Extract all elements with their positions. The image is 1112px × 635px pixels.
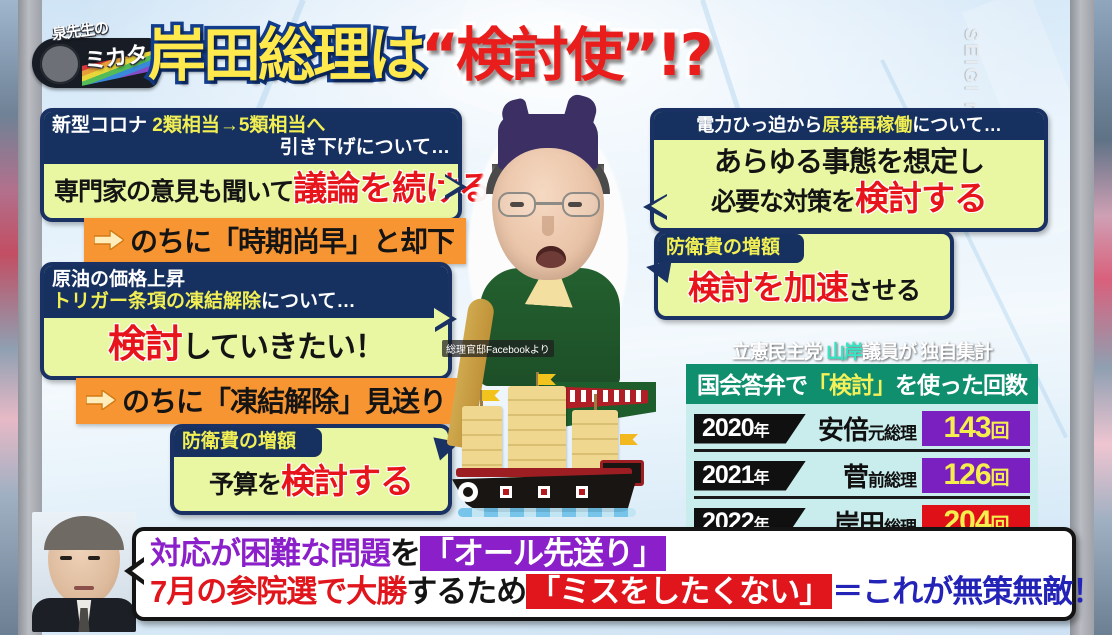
stats-title-pre: 国会答弁で	[697, 372, 807, 398]
banner-line1-part-c: 「オール先送り」	[420, 536, 666, 571]
stats-row-name-value: 安倍	[818, 415, 868, 445]
stats-row-count-value: 126	[943, 458, 990, 491]
stats-title-post: を使った回数	[895, 372, 1027, 398]
broadcast-graphic-stage: SEIGI no MIKATA SEIGI no MIKATA 泉先生の ミカタ…	[0, 0, 1112, 635]
banner-line-2: 7月の参院選で大勝するため「ミスをしたくない」＝これが無策無敵！	[150, 573, 1062, 611]
page-title: 岸田総理は “検討使”!?	[148, 10, 710, 90]
ship-round-window	[458, 482, 478, 502]
bubble-defense-accelerate: 防衛費の増額 検討を加速させる	[654, 230, 954, 320]
ship-sail	[508, 386, 566, 478]
bubble-nuclear-body-line2-highlight: 検討する	[855, 180, 987, 218]
banner-line2-part-a: 7月の参院選で大勝	[150, 574, 406, 609]
figure-nose	[542, 216, 554, 236]
figure-mouth	[536, 246, 566, 268]
table-row: 2020年 安倍元総理 143回	[694, 410, 1030, 452]
ship-sail	[462, 406, 502, 474]
right-edge-bar	[1094, 0, 1112, 635]
figure-glasses-icon	[498, 192, 600, 218]
arrow-right-icon	[94, 230, 124, 250]
stats-row-year: 2021年	[694, 461, 806, 491]
bubble-corona-header-highlight: 2類相当→5類相当へ	[152, 115, 325, 136]
bubble-nuclear-header-plain2: について…	[912, 115, 1001, 135]
ship-port-window	[536, 484, 552, 500]
stats-row-count: 143回	[922, 411, 1030, 446]
stats-row-count-unit: 回	[991, 421, 1009, 442]
bubble-nuclear-header-plain: 電力ひっ迫から	[696, 115, 822, 135]
bubble-corona-header-line2: 引き下げについて…	[52, 137, 450, 159]
bubble-oil-body: 検討していきたい！	[44, 318, 448, 377]
bubble-nuclear-body: あらゆる事態を想定し 必要な対策を検討する	[654, 140, 1044, 227]
commentator-eye-left	[60, 556, 72, 560]
banner-line1-part-a: 対応が困難な問題	[150, 536, 390, 571]
bubble-defense-budget-body: 予算を検討する	[174, 457, 448, 511]
stats-source-plain1: 立憲民主党	[732, 342, 826, 363]
page-title-yellow: 岸田総理は	[148, 8, 423, 92]
banner-line2-part-c: 「ミスをしたくない」	[526, 574, 832, 609]
stats-source-plain2: 議員が 独自集計	[862, 342, 992, 363]
banner-line2-part-b: するため	[406, 574, 526, 609]
bubble-defense-budget-body-plain: 予算を	[209, 471, 281, 499]
ship-pennant-icon	[620, 434, 638, 445]
stats-row-name-value: 菅	[843, 462, 868, 492]
bubble-defense-budget-header: 防衛費の増額	[174, 428, 322, 457]
followup-corona-text: のちに「時期尚早」と却下	[130, 220, 454, 260]
left-edge-bar	[0, 0, 18, 635]
bubble-corona-header-plain: 新型コロナ	[52, 115, 147, 136]
banner-line-1: 対応が困難な問題を「オール先送り」	[150, 535, 1062, 573]
bubble-defense-accelerate-header-highlight: 防衛費の増額	[666, 237, 780, 258]
stats-row-count-value: 143	[943, 411, 990, 444]
bubble-nuclear-body-line1: あらゆる事態を想定し	[664, 145, 1034, 179]
arrow-right-icon	[86, 390, 116, 410]
stats-title-highlight: 「検討」	[807, 372, 895, 398]
banner-line2-part-d: ＝これが無策無敵！	[832, 574, 1102, 609]
logo-circle-icon	[40, 44, 80, 84]
stats-row-name-suffix: 元総理	[868, 424, 916, 443]
stats-source-highlight: 山岸	[826, 342, 862, 363]
stats-row-name-suffix: 前総理	[868, 471, 916, 490]
bubble-defense-budget-body-highlight: 検討する	[281, 463, 413, 501]
followup-oil-text: のちに「凍結解除」見送り	[122, 380, 446, 420]
photo-credit-label: 総理官邸Facebookより	[442, 340, 554, 357]
stats-row-count-unit: 回	[991, 468, 1009, 489]
bubble-nuclear-restart: 電力ひっ迫から原発再稼働について… あらゆる事態を想定し 必要な対策を検討する	[650, 108, 1048, 232]
followup-corona: のちに「時期尚早」と却下	[84, 218, 466, 264]
stats-title: 国会答弁で「検討」を使った回数	[686, 364, 1038, 404]
commentator-mouth	[74, 586, 94, 590]
bubble-nuclear-body-line2-plain: 必要な対策を	[711, 188, 855, 216]
bubble-oil-header-tail: について…	[261, 291, 355, 312]
bubble-nuclear-body-line2: 必要な対策を検討する	[664, 179, 1034, 220]
bubble-oil-header-highlight: トリガー条項の凍結解除	[52, 291, 261, 312]
bubble-oil-body-plain: していきたい！	[182, 331, 384, 364]
stats-row-year-unit: 年	[754, 423, 769, 440]
bubble-defense-accelerate-body-highlight: 検討を加速	[688, 269, 848, 306]
stats-row-name: 安倍元総理	[812, 410, 916, 447]
bubble-nuclear-header-highlight: 原発再稼働	[822, 115, 912, 135]
stats-row-year-value: 2021	[702, 461, 754, 489]
bubble-defense-accelerate-body: 検討を加速させる	[658, 263, 950, 316]
bubble-oil-body-highlight: 検討	[108, 324, 182, 366]
banner-tail-fill	[120, 559, 148, 583]
conclusion-banner: 対応が困難な問題を「オール先送り」 7月の参院選で大勝するため「ミスをしたくない…	[132, 527, 1076, 621]
bubble-corona-header: 新型コロナ 2類相当→5類相当へ 引き下げについて…	[44, 112, 458, 164]
page-title-red: “検討使”!?	[421, 8, 710, 92]
stats-panel: 立憲民主党 山岸議員が 独自集計 国会答弁で「検討」を使った回数 2020年 安…	[686, 336, 1038, 554]
bubble-defense-budget-header-highlight: 防衛費の増額	[182, 431, 296, 452]
stats-row-count: 126回	[922, 458, 1030, 493]
ship-water-wave	[458, 508, 636, 517]
glasses-lens-right	[562, 192, 600, 217]
bubble-nuclear-header: 電力ひっ迫から原発再稼働について…	[654, 112, 1044, 140]
stats-row-year-value: 2020	[702, 414, 754, 442]
glasses-lens-left	[498, 192, 536, 217]
stats-row-name: 菅前総理	[812, 457, 916, 494]
ship-port-window	[498, 484, 514, 500]
bubble-corona-body-plain: 専門家の意見も聞いて	[54, 178, 293, 206]
stats-row-year-unit: 年	[754, 470, 769, 487]
bubble-defense-accelerate-header: 防衛費の増額	[658, 234, 804, 263]
bubble-oil-header: 原油の価格上昇 トリガー条項の凍結解除について…	[44, 266, 448, 318]
bubble-nuclear-tail-fill	[641, 196, 667, 216]
bubble-oil-header-plain: 原油の価格上昇	[52, 269, 440, 291]
ship-pennant-icon	[538, 374, 556, 385]
followup-oil: のちに「凍結解除」見送り	[76, 378, 458, 424]
banner-line1-part-b: を	[390, 536, 420, 571]
show-logo: 泉先生の ミカタ	[30, 14, 162, 92]
bubble-defense-accelerate-body-plain: させる	[848, 277, 920, 305]
stats-row-year: 2020年	[694, 414, 806, 444]
envoy-ship-illustration	[452, 368, 642, 518]
bubble-oil-header-line2: トリガー条項の凍結解除について…	[52, 291, 440, 313]
commentator-eye-right	[88, 556, 100, 560]
bubble-corona-body: 専門家の意見も聞いて議論を続ける	[44, 164, 458, 218]
stats-source-line: 立憲民主党 山岸議員が 独自集計	[686, 336, 1038, 364]
bubble-oil: 原油の価格上昇 トリガー条項の凍結解除について… 検討していきたい！	[40, 262, 452, 380]
ship-pennant-icon	[482, 390, 500, 401]
bubble-corona: 新型コロナ 2類相当→5類相当へ 引き下げについて… 専門家の意見も聞いて議論を…	[40, 108, 462, 222]
table-row: 2021年 菅前総理 126回	[694, 457, 1030, 499]
glasses-bridge	[536, 202, 562, 205]
ship-port-window	[574, 484, 590, 500]
bubble-defense-budget: 防衛費の増額 予算を検討する	[170, 424, 452, 515]
